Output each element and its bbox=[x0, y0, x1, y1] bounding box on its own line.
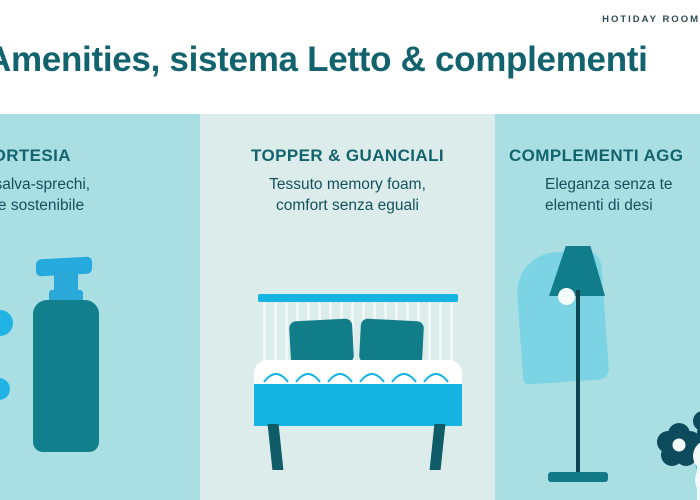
feature-column-kit-cortesia: T CORTESIA nser salva-sprechi, nium e so… bbox=[0, 114, 200, 500]
flowers-and-vase-icon bbox=[655, 376, 700, 500]
column-subtitle: Eleganza senza te elementi di desi bbox=[545, 174, 673, 216]
column-subtitle: Tessuto memory foam, comfort senza egual… bbox=[200, 174, 495, 216]
column-subtitle-line-1: Tessuto memory foam, bbox=[200, 174, 495, 195]
lamp-base-icon bbox=[548, 472, 608, 482]
column-subtitle: nser salva-sprechi, nium e sostenibile bbox=[0, 174, 90, 216]
bed-base-icon bbox=[254, 384, 462, 426]
flower-vase-illustration bbox=[655, 376, 700, 496]
column-heading: COMPLEMENTI AGG bbox=[509, 146, 683, 166]
feature-column-complementi-aggiuntivi: COMPLEMENTI AGG Eleganza senza te elemen… bbox=[495, 114, 700, 500]
feature-column-topper-guanciali: TOPPER & GUANCIALI Tessuto memory foam, … bbox=[200, 114, 495, 500]
slide-canvas: HOTIDAY ROOM Amenities, sistema Letto & … bbox=[0, 0, 700, 500]
column-subtitle-line-2: nium e sostenibile bbox=[0, 195, 90, 216]
brand-logo-text: HOTIDAY ROOM bbox=[602, 14, 700, 25]
column-subtitle-line-1: Eleganza senza te bbox=[545, 174, 673, 195]
bed-leg-icon bbox=[430, 424, 446, 470]
column-subtitle-line-2: elementi di desi bbox=[545, 195, 673, 216]
column-heading: T CORTESIA bbox=[0, 146, 71, 166]
bed-leg-icon bbox=[268, 424, 284, 470]
feature-columns: T CORTESIA nser salva-sprechi, nium e so… bbox=[0, 114, 700, 500]
column-subtitle-line-1: nser salva-sprechi, bbox=[0, 174, 90, 195]
column-heading: TOPPER & GUANCIALI bbox=[200, 146, 495, 166]
quilt-stitching-icon bbox=[254, 362, 462, 386]
lamp-stem-icon bbox=[576, 290, 580, 474]
column-subtitle-line-2: comfort senza eguali bbox=[200, 195, 495, 216]
page-title: Amenities, sistema Letto & complementi bbox=[0, 40, 700, 80]
pillow-icon bbox=[289, 318, 354, 365]
pillow-icon bbox=[359, 318, 424, 365]
headboard-rail-icon bbox=[258, 294, 458, 302]
lightbulb-icon bbox=[558, 288, 575, 305]
soap-bubble-icon bbox=[0, 310, 13, 336]
dispenser-bottle-icon bbox=[33, 300, 99, 452]
soap-bubble-icon bbox=[0, 378, 10, 400]
